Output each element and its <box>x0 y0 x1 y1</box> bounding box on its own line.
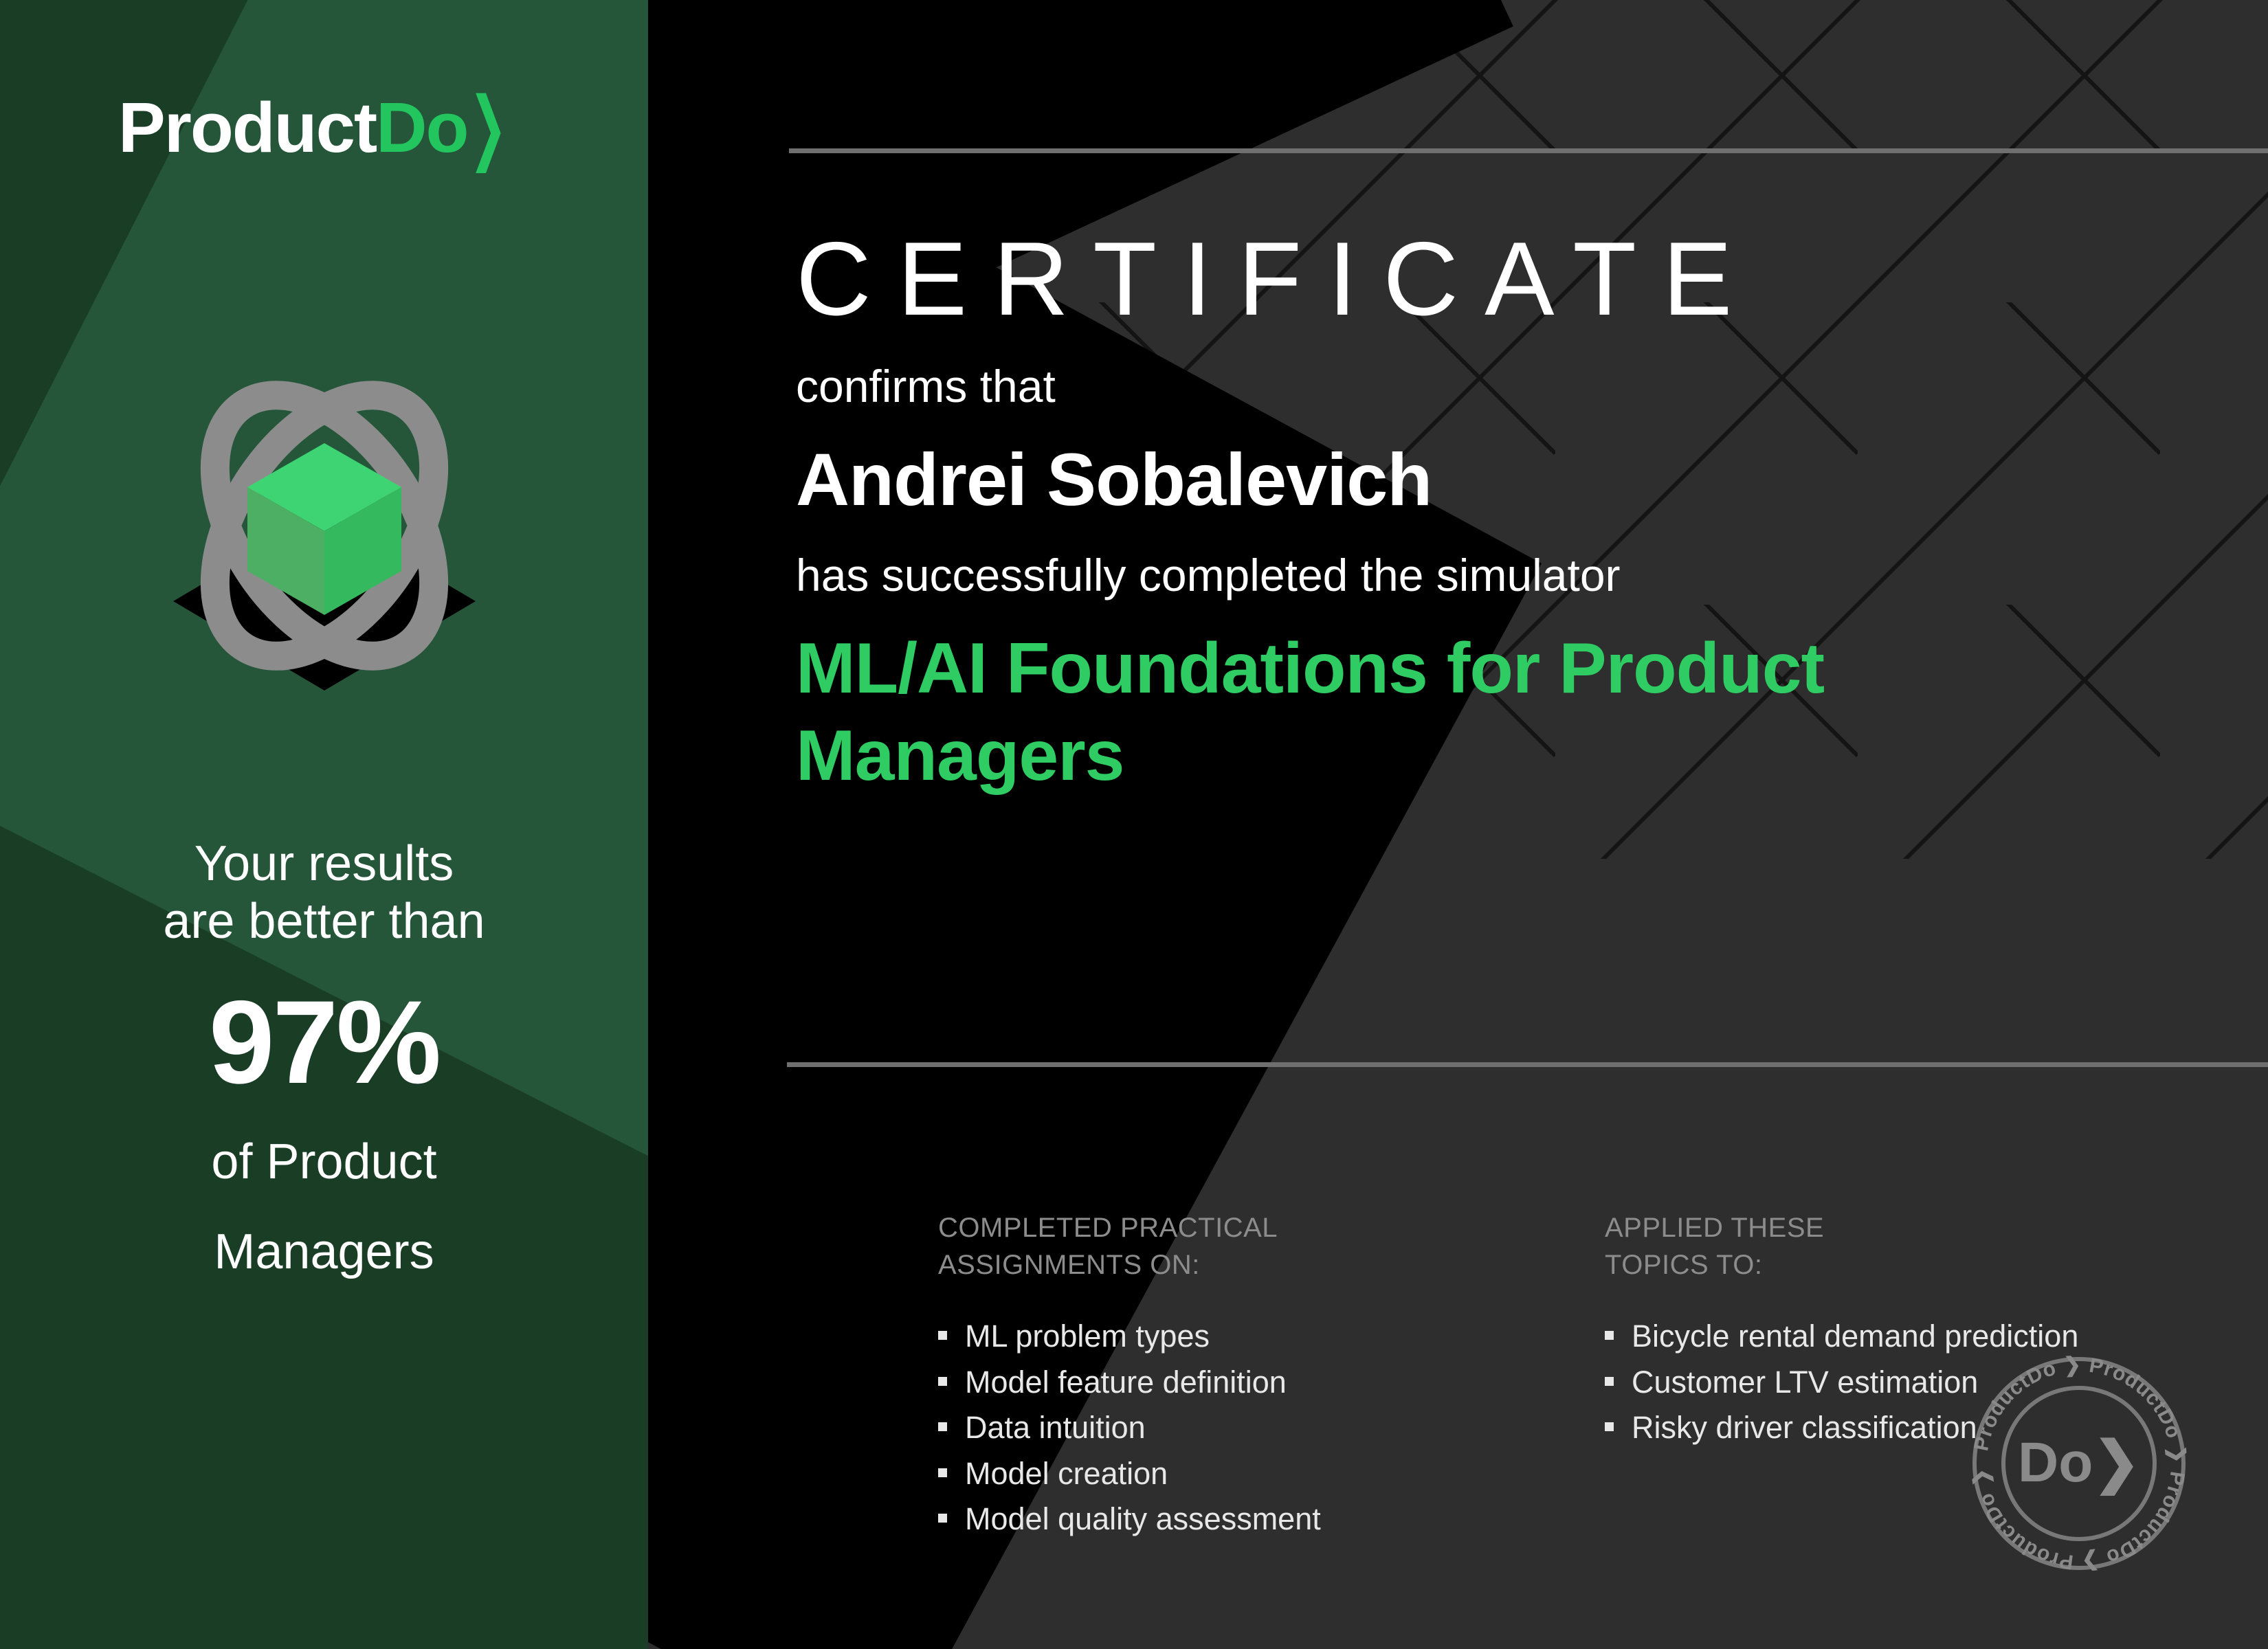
product-do-seal-stamp: ProductDo ❯ ProductDo ❯ ProductDo ❯ Prod… <box>1962 1347 2196 1580</box>
recipient-name: Andrei Sobalevich <box>796 439 2239 521</box>
divider-top <box>789 148 2268 153</box>
column-heading-topics: APPLIED THESE TOPICS TO: <box>1605 1209 2223 1283</box>
list-item: Data intuition <box>938 1405 1488 1451</box>
assignments-list: ML problem types Model feature definitio… <box>938 1314 1488 1543</box>
list-column-assignments: COMPLETED PRACTICAL ASSIGNMENTS ON: ML p… <box>938 1209 1488 1543</box>
list-item-label: Model quality assessment <box>965 1496 1321 1543</box>
list-item: Model feature definition <box>938 1360 1488 1406</box>
column-heading-assignments: COMPLETED PRACTICAL ASSIGNMENTS ON: <box>938 1209 1488 1283</box>
brand-logo-product: Product <box>118 88 376 167</box>
certificate-canvas: CERTIFICATE confirms that Andrei Sobalev… <box>0 0 2268 1649</box>
list-item: Model quality assessment <box>938 1496 1488 1543</box>
bullet-square-icon <box>1605 1422 1614 1431</box>
seal-center-text: Do❯ <box>2018 1431 2140 1496</box>
bullet-square-icon <box>1605 1377 1614 1386</box>
brand-logo: ProductDo❯ <box>0 89 648 164</box>
certificate-body: CERTIFICATE confirms that Andrei Sobalev… <box>796 227 2239 800</box>
list-item-label: Model feature definition <box>965 1360 1287 1406</box>
course-title: ML/AI Foundations for Product Managers <box>796 625 1964 800</box>
atom-cube-emblem-icon <box>153 340 496 704</box>
bullet-square-icon <box>938 1468 947 1477</box>
brand-emblem <box>0 330 648 715</box>
bullet-square-icon <box>938 1331 947 1340</box>
list-item-label: Data intuition <box>965 1405 1146 1451</box>
results-line-2: are better than <box>0 893 648 950</box>
list-item-label: ML problem types <box>965 1314 1210 1360</box>
certificate-side-panel <box>0 0 648 1649</box>
results-line-1: Your results <box>0 835 648 893</box>
list-item: ML problem types <box>938 1314 1488 1360</box>
chevron-right-icon: ❯ <box>469 87 507 167</box>
bullet-square-icon <box>1605 1331 1614 1340</box>
list-item-label: Customer LTV estimation <box>1632 1360 1978 1406</box>
list-item-label: Model creation <box>965 1451 1168 1497</box>
brand-logo-do: Do <box>376 88 467 167</box>
bullet-square-icon <box>938 1514 947 1523</box>
page-title: CERTIFICATE <box>796 227 2239 331</box>
list-item: Model creation <box>938 1451 1488 1497</box>
confirms-label: confirms that <box>796 361 2239 412</box>
bullet-square-icon <box>938 1377 947 1386</box>
divider-bottom <box>787 1062 2268 1067</box>
percentile-value: 97% <box>0 983 648 1101</box>
audience-line-1: of Product <box>0 1133 648 1191</box>
bullet-square-icon <box>938 1422 947 1431</box>
audience-line-2: Managers <box>0 1223 648 1281</box>
results-summary: Your results are better than 97% of Prod… <box>0 835 648 1281</box>
list-item-label: Risky driver classification <box>1632 1405 1977 1451</box>
completion-label: has successfully completed the simulator <box>796 550 2239 601</box>
